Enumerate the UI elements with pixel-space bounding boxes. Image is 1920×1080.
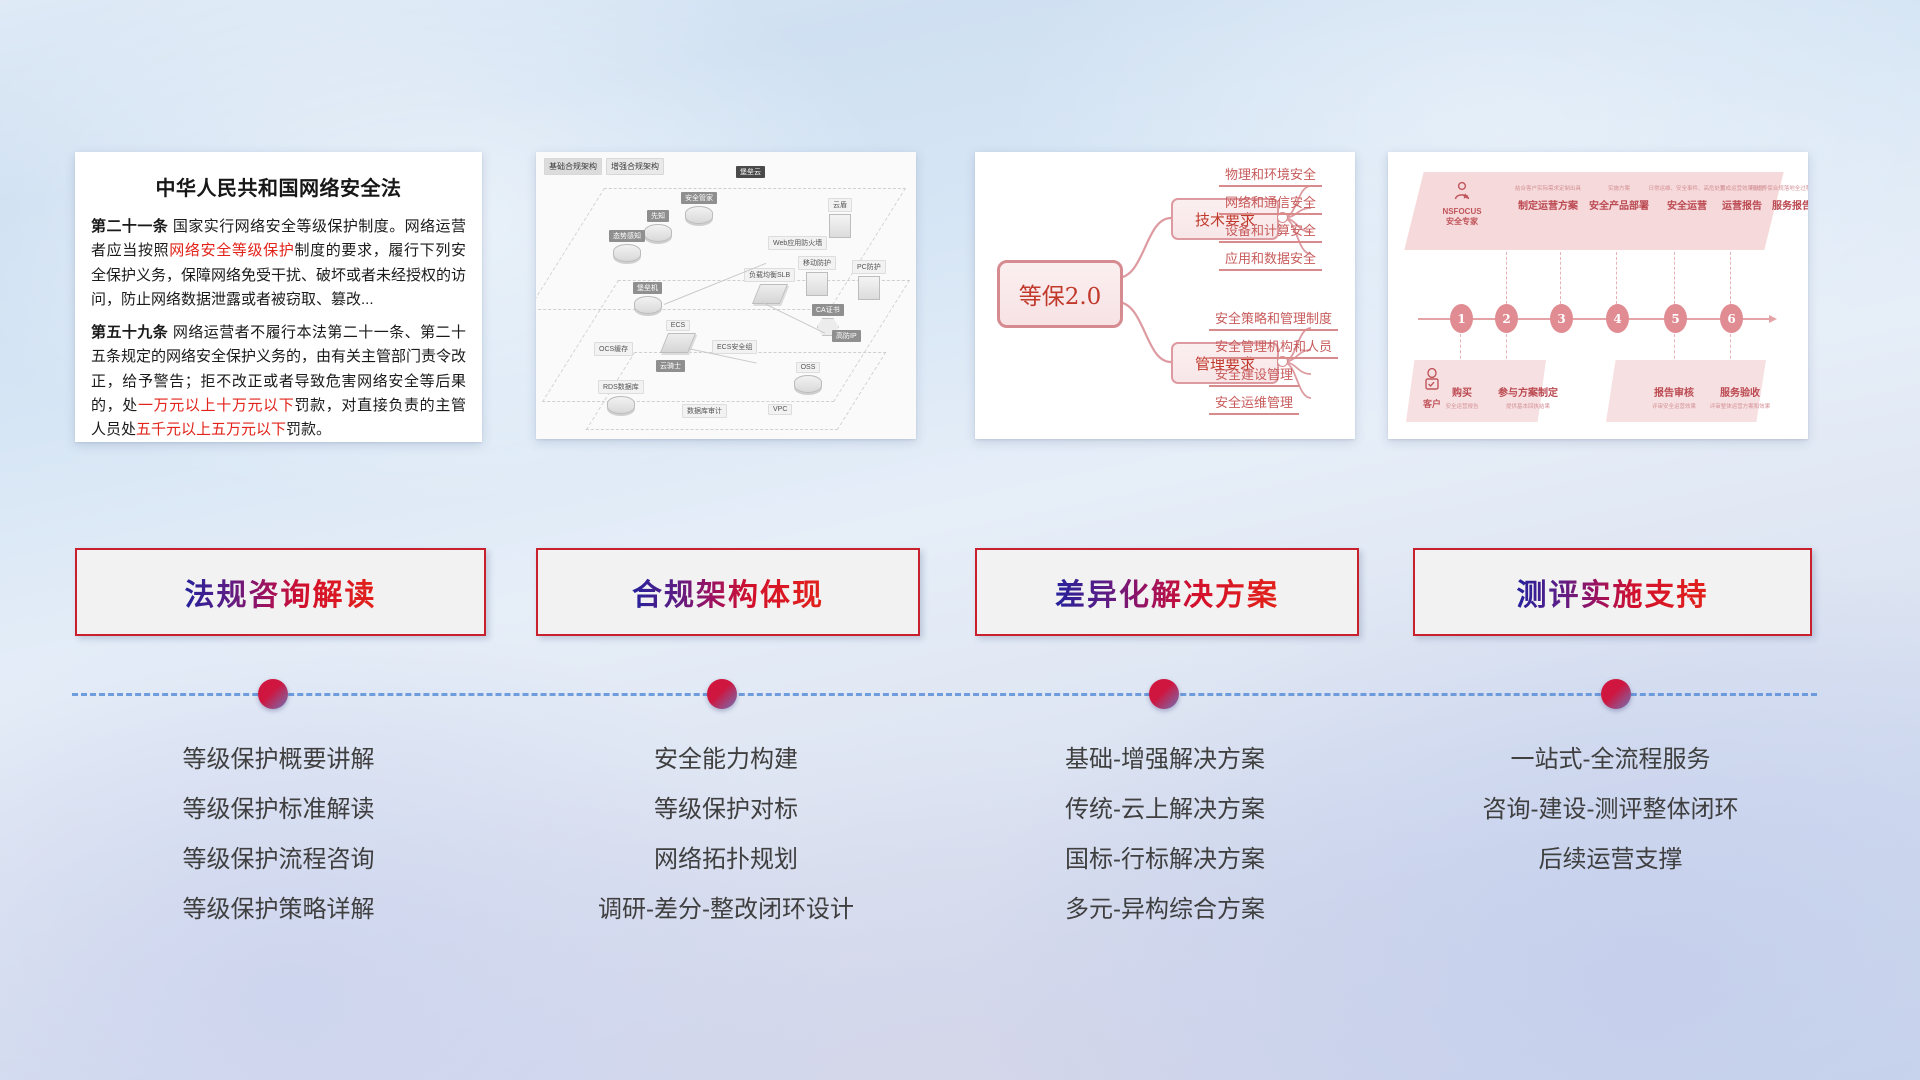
list-item: 安全能力构建 [516, 735, 936, 785]
timeline-dot-3[interactable] [1149, 679, 1179, 709]
timeline-dot-2[interactable] [707, 679, 737, 709]
list-item: 等级保护概要讲解 [75, 735, 482, 785]
list-item: 等级保护标准解读 [75, 785, 482, 835]
list-item: 调研-差分-整改闭环设计 [516, 885, 936, 935]
headline-box-compliance-architecture[interactable]: 合规架构体现 [536, 548, 920, 636]
list-item: 多元-异构综合方案 [955, 885, 1375, 935]
timeline-dot-4[interactable] [1601, 679, 1631, 709]
detail-column-regulation: 等级保护概要讲解 等级保护标准解读 等级保护流程咨询 等级保护策略详解 [75, 735, 482, 935]
list-item: 传统-云上解决方案 [955, 785, 1375, 835]
detail-column-assessment: 一站式-全流程服务 咨询-建设-测评整体闭环 后续运营支撑 [1393, 735, 1828, 885]
headline-label: 合规架构体现 [632, 570, 824, 614]
list-item: 等级保护策略详解 [75, 885, 482, 935]
list-item: 等级保护流程咨询 [75, 835, 482, 885]
list-item: 网络拓扑规划 [516, 835, 936, 885]
headline-label: 差异化解决方案 [1055, 570, 1279, 614]
list-item: 基础-增强解决方案 [955, 735, 1375, 785]
list-item: 等级保护对标 [516, 785, 936, 835]
list-item: 一站式-全流程服务 [1393, 735, 1828, 785]
list-item: 后续运营支撑 [1393, 835, 1828, 885]
headline-box-assessment-support[interactable]: 测评实施支持 [1413, 548, 1812, 636]
headline-label: 测评实施支持 [1517, 570, 1709, 614]
headline-box-regulation-consulting[interactable]: 法规咨询解读 [75, 548, 486, 636]
timeline-dashed-line [72, 693, 1817, 696]
list-item: 咨询-建设-测评整体闭环 [1393, 785, 1828, 835]
detail-column-solution: 基础-增强解决方案 传统-云上解决方案 国标-行标解决方案 多元-异构综合方案 [955, 735, 1375, 935]
headline-box-differentiated-solution[interactable]: 差异化解决方案 [975, 548, 1359, 636]
list-item: 国标-行标解决方案 [955, 835, 1375, 885]
headline-label: 法规咨询解读 [185, 570, 377, 614]
detail-column-architecture: 安全能力构建 等级保护对标 网络拓扑规划 调研-差分-整改闭环设计 [516, 735, 936, 935]
timeline-dot-1[interactable] [258, 679, 288, 709]
